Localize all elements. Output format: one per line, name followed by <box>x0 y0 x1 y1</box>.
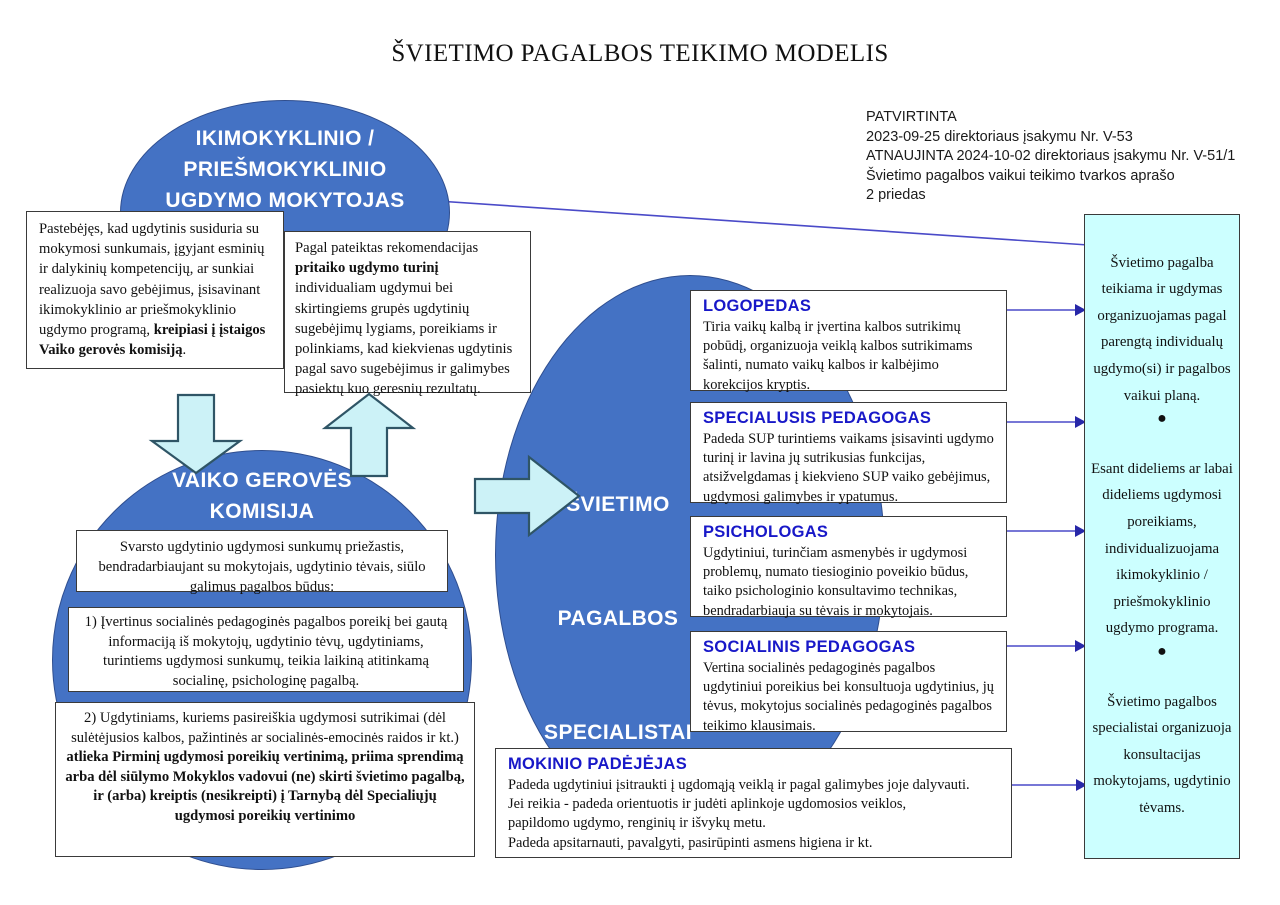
connector-socialinis-to-plan <box>1007 636 1087 656</box>
note-commission-item-2-lead: 2) Ugdytiniams, kuriems pasireiškia ugdy… <box>71 710 459 746</box>
spec-title-specialusis-pedagogas: SPECIALUSIS PEDAGOGAS <box>703 408 996 429</box>
spec-box-mokinio-padejejas[interactable]: MOKINIO PADĖJĖJAS Padeda ugdytiniui įsit… <box>495 748 1012 858</box>
spec-title-logopedas: LOGOPEDAS <box>703 296 996 317</box>
arrow-down-teacher-to-commission <box>148 393 244 475</box>
note-teacher-left-lead: Pastebėjęs, kad ugdytinis susiduria su m… <box>39 221 264 338</box>
spec-body-psichologas: Ugdytiniui, turinčiam asmenybės ir ugdym… <box>703 544 996 621</box>
page-title: ŠVIETIMO PAGALBOS TEIKIMO MODELIS <box>0 40 1280 68</box>
plan-panel-bullet-1-icon: ● <box>1091 409 1233 429</box>
spec-title-socialinis-pedagogas: SOCIALINIS PEDAGOGAS <box>703 637 996 658</box>
connector-logopedas-to-plan <box>1007 300 1087 320</box>
connector-padejejas-to-plan <box>1012 775 1088 795</box>
spec-body-specialusis-pedagogas: Padeda SUP turintiems vaikams įsisavinti… <box>703 430 996 507</box>
spec-body-socialinis-pedagogas: Vertina socialinės pedagoginės pagalbos … <box>703 659 996 736</box>
plan-panel-bullet-2-icon: ● <box>1091 642 1233 662</box>
node-preschool-teacher-label: IKIMOKYKLINIO / PRIEŠMOKYKLINIO UGDYMO M… <box>121 123 449 216</box>
spec-box-psichologas[interactable]: PSICHOLOGAS Ugdytiniui, turinčiam asmeny… <box>690 516 1007 617</box>
connector-psichologas-to-plan <box>1007 521 1087 541</box>
connector-specialusis-to-plan <box>1007 412 1087 432</box>
note-teacher-right-lead: Pagal pateiktas rekomendacijas <box>295 240 478 256</box>
note-commission-item-2: 2) Ugdytiniams, kuriems pasireiškia ugdy… <box>55 702 475 857</box>
spec-body-mokinio-padejejas: Padeda ugdytiniui įsitraukti į ugdomąją … <box>508 776 1001 853</box>
plan-panel-para2: Esant dideliems ar labai dideliems ugdym… <box>1091 461 1233 637</box>
spec-box-socialinis-pedagogas[interactable]: SOCIALINIS PEDAGOGAS Vertina socialinės … <box>690 631 1007 732</box>
note-commission-item-1: 1) Įvertinus socialinės pedagoginės paga… <box>68 607 464 692</box>
note-teacher-adapts-content: Pagal pateiktas rekomendacijas pritaiko … <box>284 231 531 393</box>
plan-panel: Švietimo pagalba teikiama ir ugdymas org… <box>1084 214 1240 859</box>
arrow-up-commission-to-teacher <box>321 392 417 478</box>
note-commission-considers-causes: Svarsto ugdytinio ugdymosi sunkumų priež… <box>76 530 448 592</box>
note-teacher-right-bold: pritaiko ugdymo turinį <box>295 260 439 276</box>
spec-title-mokinio-padejejas: MOKINIO PADĖJĖJAS <box>508 754 1001 775</box>
arrow-right-commission-to-specialists <box>473 455 583 537</box>
plan-panel-para3: Švietimo pagalbos specialistai organizuo… <box>1092 694 1231 816</box>
spec-title-psichologas: PSICHOLOGAS <box>703 522 996 543</box>
plan-panel-para1: Švietimo pagalba teikiama ir ugdymas org… <box>1093 255 1230 404</box>
note-teacher-left-tail: . <box>183 342 187 358</box>
spec-box-specialusis-pedagogas[interactable]: SPECIALUSIS PEDAGOGAS Padeda SUP turinti… <box>690 402 1007 503</box>
note-teacher-refers-to-commission: Pastebėjęs, kad ugdytinis susiduria su m… <box>26 211 284 369</box>
note-teacher-right-tail: individualiam ugdymui bei skirtingiems g… <box>295 280 512 397</box>
spec-body-logopedas: Tiria vaikų kalbą ir įvertina kalbos sut… <box>703 318 996 395</box>
note-commission-item-2-bold: atlieka Pirminį ugdymosi poreikių vertin… <box>65 749 464 824</box>
spec-box-logopedas[interactable]: LOGOPEDAS Tiria vaikų kalbą ir įvertina … <box>690 290 1007 391</box>
